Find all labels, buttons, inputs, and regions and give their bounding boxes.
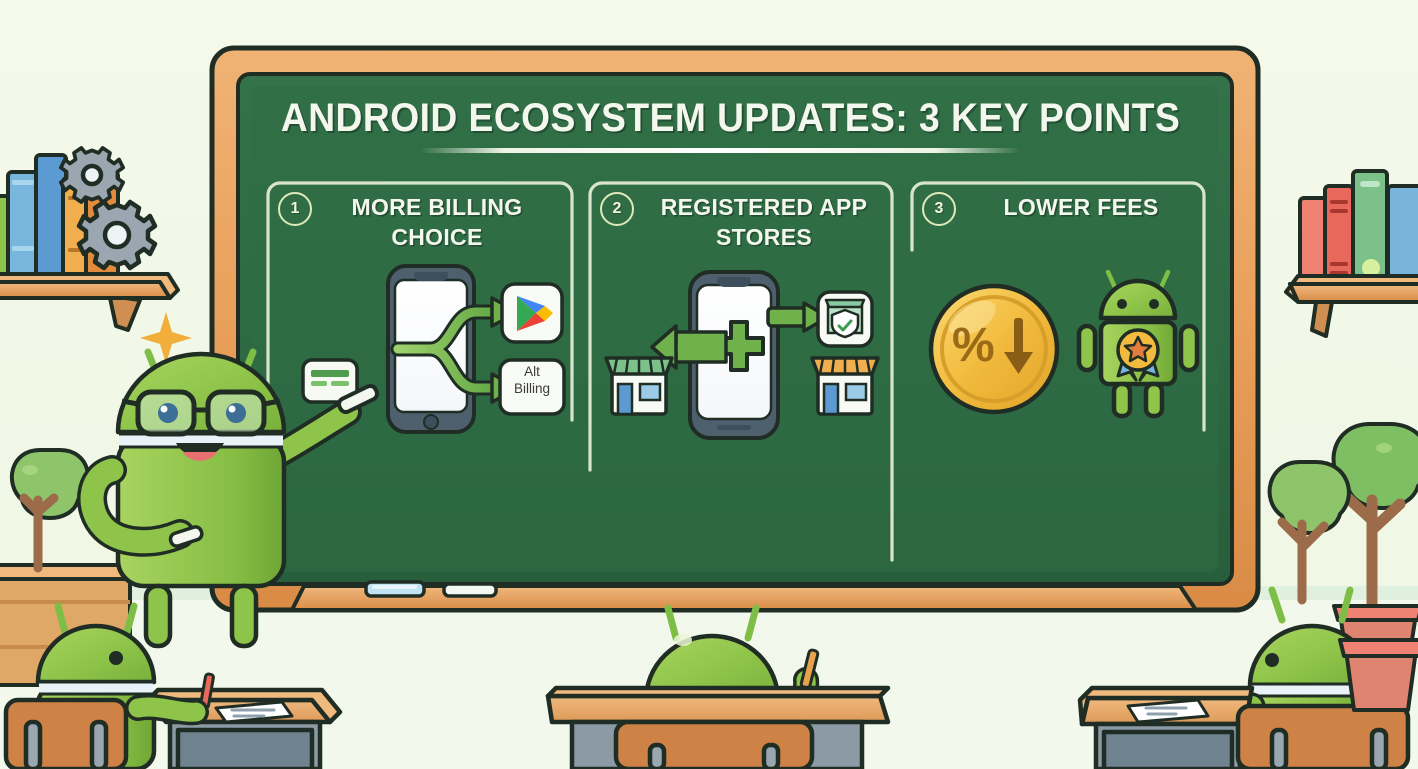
alt-billing-label: Alt Billing (502, 363, 562, 397)
panel-3-title: LOWER FEES (966, 192, 1196, 222)
panel-1-title-line-2: CHOICE (322, 222, 552, 252)
classroom-scene: ANDROID ECOSYSTEM UPDATES: 3 KEY POINTS … (0, 0, 1418, 769)
board-title: ANDROID ECOSYSTEM UPDATES: 3 KEY POINTS (281, 96, 1155, 141)
google-play-icon (502, 284, 562, 342)
chalk-ledge (292, 586, 1196, 610)
potted-plant-right (1340, 640, 1418, 710)
panel-2-number: 2 (600, 192, 634, 226)
panel-1-title-line-1: MORE BILLING (322, 192, 552, 222)
panel-1-title: MORE BILLING CHOICE (322, 192, 552, 252)
verified-store-shield-icon (818, 292, 872, 346)
desk-right (1080, 688, 1252, 769)
chalk-white (444, 584, 496, 596)
storefront-blue-icon (606, 358, 672, 414)
chair-left (6, 700, 126, 769)
panel-2-title-line-2: STORES (644, 222, 884, 252)
panel-2-title-line-1: REGISTERED APP (644, 192, 884, 222)
chair-right (1238, 706, 1408, 769)
panel-1-number: 1 (278, 192, 312, 226)
chair-center (616, 722, 812, 769)
title-underline (420, 148, 1020, 153)
coin-percent-symbol: % (952, 318, 995, 373)
storefront-orange-icon (812, 358, 878, 414)
alt-billing-line-1: Alt (502, 363, 562, 380)
desk-left (138, 674, 340, 769)
panel-2-title: REGISTERED APP STORES (644, 192, 884, 252)
alt-billing-line-2: Billing (502, 380, 562, 397)
panel-3-number: 3 (922, 192, 956, 226)
panel-3-title-line-1: LOWER FEES (966, 192, 1196, 222)
chalk-blue (366, 582, 424, 596)
